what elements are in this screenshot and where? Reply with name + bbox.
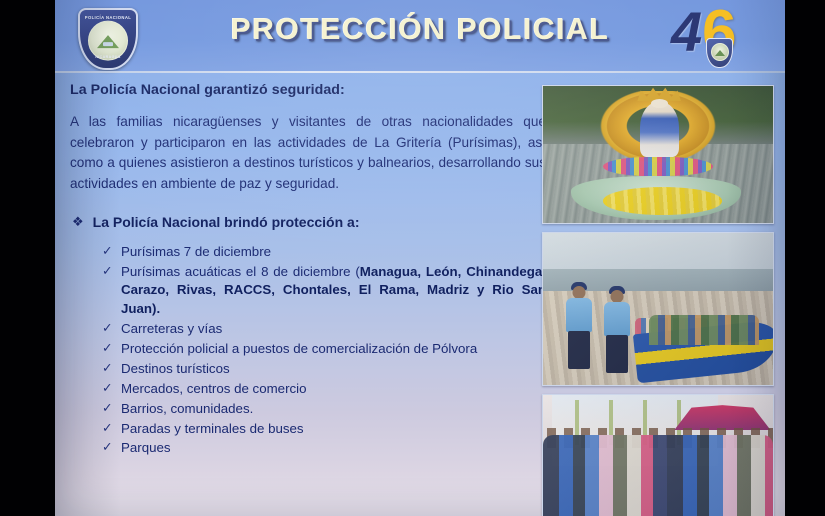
intro-paragraph: A las familias nicaragüenses y visitante… [70,112,552,195]
content-text-column: La Policía Nacional garantizó seguridad:… [70,82,552,459]
check-list-item: Mercados, centros de comercio [102,380,546,399]
photo1-flowers [603,157,713,176]
photo2-police-officer-back [603,290,631,376]
shield-bottom-text: NICARAGUA [78,55,138,59]
anniversary-digit-4: 4 [671,4,702,60]
photo-multitud-mercado [542,394,774,516]
photo2-officer-legs-2 [606,335,628,373]
photo-column [542,85,774,516]
check-list-item: Paradas y terminales de buses [102,420,546,439]
anniversary-46-logo: 4 6 [669,4,761,70]
presentation-slide: POLICÍA NACIONAL NICARAGUA PROTECCIÓN PO… [55,0,785,516]
check-list-item: Parques [102,439,546,458]
subhead-row: ❖ La Policía Nacional brindó protección … [72,213,552,231]
check-item-text: Protección policial a puestos de comerci… [121,341,477,356]
photo2-officer-uniform [566,298,592,332]
photo-virgen-altar-en-rio [542,85,774,224]
photo2-boat-passengers [649,315,759,345]
lead-heading: La Policía Nacional garantizó seguridad: [70,82,552,98]
check-item-text: Purísimas acuáticas el 8 de diciembre ( [121,264,360,279]
subhead-text: La Policía Nacional brindó protección a: [93,213,360,231]
photo1-yellow-garland [603,187,723,214]
slide-header: POLICÍA NACIONAL NICARAGUA PROTECCIÓN PO… [55,0,785,72]
photo2-police-officer-front [564,286,594,376]
protection-check-list: Purísimas 7 de diciembrePurísimas acuáti… [70,243,552,459]
photo1-virgin-statue [640,102,679,157]
check-item-text: Paradas y terminales de buses [121,421,304,436]
check-list-item: Protección policial a puestos de comerci… [102,340,546,359]
check-item-text: Purísimas 7 de diciembre [121,244,271,259]
anniversary-shield-emblem [711,43,729,61]
check-list-item: Destinos turísticos [102,360,546,379]
photo2-officer-uniform-2 [604,302,630,336]
photo3-crowd [543,435,773,516]
check-item-text: Carreteras y vías [121,321,222,336]
check-list-item: Barrios, comunidades. [102,400,546,419]
projected-screen-photo: POLICÍA NACIONAL NICARAGUA PROTECCIÓN PO… [0,0,825,516]
photo2-officer-legs [568,331,590,369]
diamond-bullet-icon: ❖ [72,213,84,231]
check-item-text: Barrios, comunidades. [121,401,253,416]
check-item-text: Parques [121,440,171,455]
check-list-item: Purísimas acuáticas el 8 de diciembre (M… [102,263,546,320]
header-divider [55,71,785,73]
check-item-text: Destinos turísticos [121,361,230,376]
photo-policias-playa-lancha [542,232,774,386]
check-item-text: Mercados, centros de comercio [121,381,307,396]
check-list-item: Carreteras y vías [102,320,546,339]
check-list-item: Purísimas 7 de diciembre [102,243,546,262]
